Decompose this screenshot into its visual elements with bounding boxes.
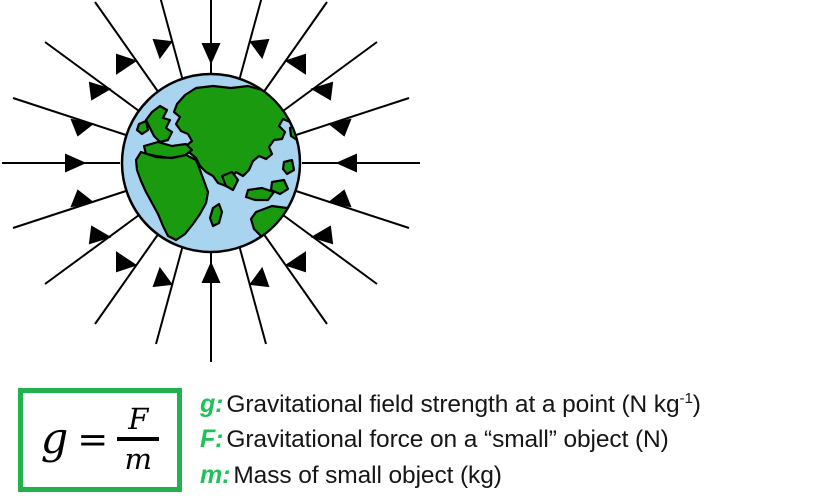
legend-item-m: m:Mass of small object (kg) [200, 458, 825, 493]
legend-description-m: Mass of small object (kg) [233, 462, 501, 489]
formula-numerator-F: F [124, 404, 152, 434]
formula-equals-sign: = [74, 421, 111, 458]
legend-suffix-g: ) [693, 391, 701, 418]
legend-symbol-m: m: [200, 461, 230, 489]
legend-symbol-F: F: [200, 425, 223, 453]
formula-denominator-m: m [121, 444, 157, 474]
formula-box: g = F m [18, 388, 182, 492]
indonesia-islands [246, 188, 274, 200]
legend-description-g: Gravitational field strength at a point … [226, 391, 679, 418]
formula-fraction-bar [117, 437, 159, 441]
legend-item-g: g:Gravitational field strength at a poin… [200, 387, 825, 422]
philippines-island [283, 160, 294, 174]
formula-lhs-g: g [41, 418, 69, 461]
legend-superscript-g: -1 [679, 390, 692, 407]
legend-symbol-g: g: [200, 390, 223, 418]
gravitational-field-diagram [0, 0, 440, 380]
formula-fraction: F m [117, 404, 159, 475]
legend-item-F: F:Gravitational force on a “small” objec… [200, 422, 825, 457]
symbol-legend: g:Gravitational field strength at a poin… [200, 387, 825, 493]
legend-description-F: Gravitational force on a “small” object … [226, 426, 668, 453]
formula-expression: g = F m [41, 404, 160, 475]
